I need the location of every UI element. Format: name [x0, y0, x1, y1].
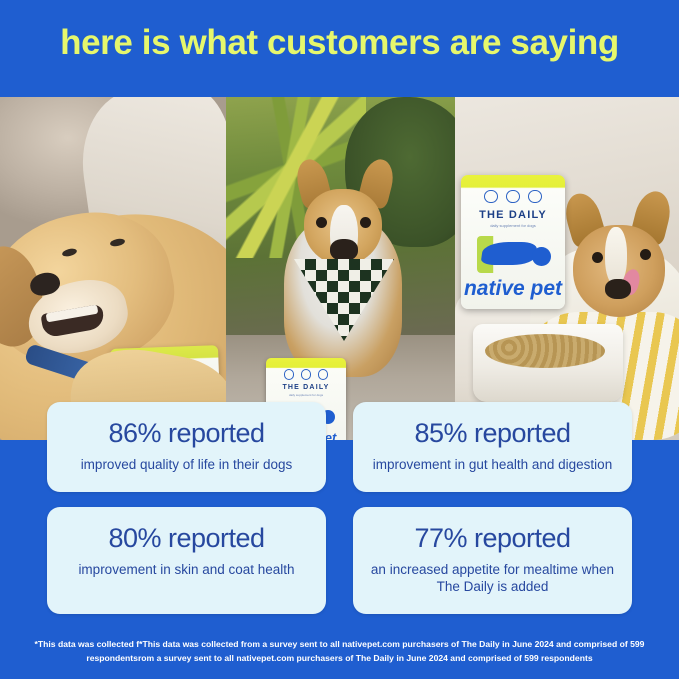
photo2-dog-snout — [330, 239, 358, 261]
stat-description: improvement in gut health and digestion — [367, 456, 618, 474]
photo3-tin-benefit-icons — [461, 190, 565, 204]
bolt-icon — [318, 369, 328, 379]
stat-card: 86% reported improved quality of life in… — [47, 402, 326, 492]
photo2-dog-eye-left — [316, 217, 327, 228]
leaf-icon — [506, 190, 520, 204]
photo3-tin-daily-label: THE DAILY — [461, 209, 565, 221]
photo3-dog-eye-right — [640, 249, 651, 260]
photo-strip: THE DAILY daily supplement for dogs nati… — [0, 97, 679, 440]
photo2-dog-eye-right — [360, 217, 371, 228]
photo3-dog-eye-left — [592, 252, 603, 263]
photo3-food-bowl — [473, 324, 623, 402]
stat-card: 85% reported improvement in gut health a… — [353, 402, 632, 492]
photo3-product-tin: THE DAILY daily supplement for dogs nati… — [461, 175, 565, 309]
stat-percent: 77% reported — [367, 523, 618, 554]
bolt-icon — [528, 190, 542, 204]
paw-icon — [484, 190, 498, 204]
photo2-tin-daily-label: THE DAILY — [266, 384, 346, 391]
photo3-tin-sub-label: daily supplement for dogs — [461, 223, 565, 228]
footer-disclaimer: *This data was collected f*This data was… — [18, 638, 661, 665]
photo3-dog-snout — [605, 279, 631, 299]
stat-percent: 86% reported — [61, 418, 312, 449]
stat-description: improved quality of life in their dogs — [61, 456, 312, 474]
photo-chihuahua: THE DAILY daily supplement for dogs nati… — [455, 97, 679, 440]
stat-percent: 85% reported — [367, 418, 618, 449]
stat-cards: 86% reported improved quality of life in… — [47, 402, 632, 614]
photo-corgi: THE DAILY daily supplement for dogs nati… — [226, 97, 455, 440]
stat-description: improvement in skin and coat health — [61, 561, 312, 579]
leaping-dog-logo-icon — [477, 236, 550, 274]
stat-percent: 80% reported — [61, 523, 312, 554]
photo3-tin-brand: native pet — [461, 277, 565, 301]
stat-card: 77% reported an increased appetite for m… — [353, 507, 632, 614]
stat-description: an increased appetite for mealtime when … — [367, 561, 618, 596]
promo-page: here is what customers are saying — [0, 0, 679, 679]
paw-icon — [284, 369, 294, 379]
leaf-icon — [301, 369, 311, 379]
photo-golden-retriever: THE DAILY daily supplement for dogs nati… — [0, 97, 226, 440]
page-title: here is what customers are saying — [0, 24, 679, 63]
photo2-tin-benefit-icons — [266, 369, 346, 379]
photo3-food — [485, 334, 605, 368]
stat-card: 80% reported improvement in skin and coa… — [47, 507, 326, 614]
photo2-tin-sub-label: daily supplement for dogs — [266, 393, 346, 397]
